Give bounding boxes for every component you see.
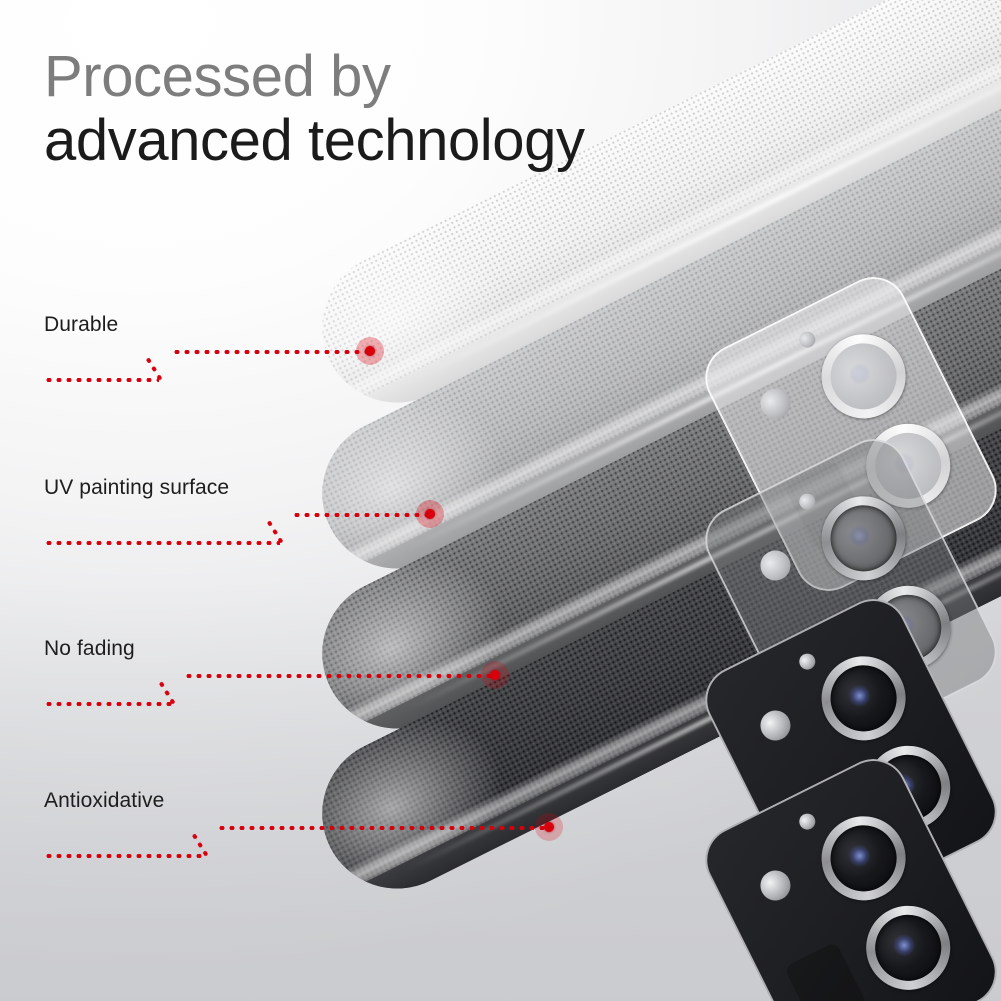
callout-underline: [44, 378, 159, 382]
callout-label: Durable: [44, 313, 118, 337]
callout-label: UV painting surface: [44, 476, 229, 500]
callout-marker: [356, 337, 384, 365]
callout-marker: [481, 661, 509, 689]
callout-marker: [416, 500, 444, 528]
callout-label: Antioxidative: [44, 789, 164, 813]
callout-leader-line: [172, 350, 368, 354]
marker-dot-icon: [365, 346, 375, 356]
callout-group: Durable UV painting surface: [0, 0, 1001, 1001]
callout-leader-line: [184, 674, 494, 678]
callout-label: No fading: [44, 637, 135, 661]
product-infographic: Processed by advanced technology NILLKIN…: [0, 0, 1001, 1001]
callout-leader-line: [292, 513, 428, 517]
callout-underline: [44, 541, 280, 545]
marker-dot-icon: [490, 670, 500, 680]
callout-underline: [44, 702, 172, 706]
callout-marker: [535, 813, 563, 841]
marker-dot-icon: [544, 822, 554, 832]
callout-leader-line: [217, 826, 547, 830]
callout-underline: [44, 854, 205, 858]
marker-dot-icon: [425, 509, 435, 519]
